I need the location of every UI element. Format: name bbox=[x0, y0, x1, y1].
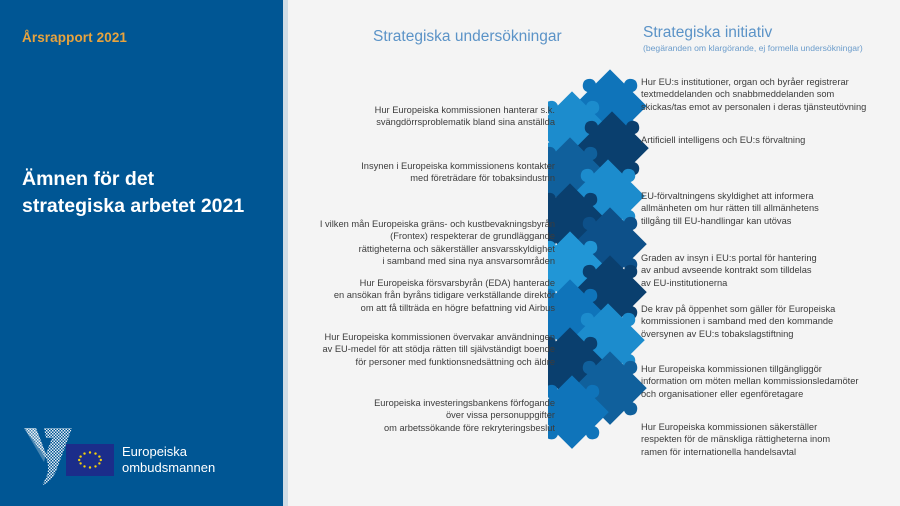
item-line: en ansökan från byråns tidigare verkstäl… bbox=[305, 289, 555, 301]
item-line: respekten för de mänskliga rättigheterna… bbox=[641, 433, 900, 445]
infographic-page: Årsrapport 2021 Ämnen för det strategisk… bbox=[0, 0, 900, 506]
column-heading-strategic-initiatives: Strategiska initiativ bbox=[643, 24, 772, 42]
column-heading-strategic-inquiries: Strategiska undersökningar bbox=[373, 28, 562, 46]
eu-flag bbox=[66, 444, 114, 476]
item-line: ramen för internationella handelsavtal bbox=[641, 446, 900, 458]
item-line: Hur Europeiska försvarsbyrån (EDA) hante… bbox=[305, 277, 555, 289]
item-line: Europeiska investeringsbankens förfogand… bbox=[305, 397, 555, 409]
logo-text-line-1: Europeiska bbox=[122, 444, 215, 460]
item-line: och organisationer eller egenföretagare bbox=[641, 388, 900, 400]
item-line: EU-förvaltningens skyldighet att informe… bbox=[641, 190, 900, 202]
list-item: Artificiell intelligens och EU:s förvalt… bbox=[641, 134, 900, 146]
list-item: Hur Europeiska kommissionen tillgängligg… bbox=[641, 363, 900, 400]
logo-text: Europeiska ombudsmannen bbox=[122, 444, 215, 476]
list-item: Hur Europeiska kommissionen säkerställer… bbox=[641, 421, 900, 458]
item-line: i samband med sina nya ansvarsområden bbox=[305, 255, 555, 267]
item-line: av EU-medel för att stödja rätten till s… bbox=[305, 343, 555, 355]
page-title-line-1: Ämnen för det bbox=[22, 166, 272, 193]
item-line: Hur EU:s institutioner, organ och byråer… bbox=[641, 76, 900, 88]
list-item: Graden av insyn i EU:s portal för hanter… bbox=[641, 252, 900, 289]
item-line: skickas/tas emot av personalen i deras t… bbox=[641, 101, 900, 113]
page-title: Ämnen för det strategiska arbetet 2021 bbox=[22, 166, 272, 220]
list-item: Insynen i Europeiska kommissionens konta… bbox=[305, 160, 555, 185]
item-line: De krav på öppenhet som gäller för Europ… bbox=[641, 303, 900, 315]
item-line: Insynen i Europeiska kommissionens konta… bbox=[305, 160, 555, 172]
list-item: Hur Europeiska försvarsbyrån (EDA) hante… bbox=[305, 277, 555, 314]
item-line: kommissionen i samband med den kommande bbox=[641, 315, 900, 327]
panel-divider bbox=[283, 0, 288, 506]
logo-text-line-2: ombudsmannen bbox=[122, 460, 215, 476]
item-line: Hur Europeiska kommissionen övervakar an… bbox=[305, 331, 555, 343]
item-line: om arbetssökande före rekryteringsbeslut bbox=[305, 422, 555, 434]
list-item: I vilken mån Europeiska gräns- och kustb… bbox=[305, 218, 555, 268]
item-line: allmänheten om hur rätten till allmänhet… bbox=[641, 202, 900, 214]
item-line: information om möten mellan kommissionsl… bbox=[641, 375, 900, 387]
list-item: Europeiska investeringsbankens förfogand… bbox=[305, 397, 555, 434]
page-title-line-2: strategiska arbetet 2021 bbox=[22, 193, 272, 220]
interlocking-puzzle-piece-chain bbox=[548, 52, 652, 494]
item-line: Hur Europeiska kommissionen hanterar s.k… bbox=[305, 104, 555, 116]
item-line: av anbud avseende kontrakt som tilldelas bbox=[641, 264, 900, 276]
list-item: Hur Europeiska kommissionen övervakar an… bbox=[305, 331, 555, 368]
item-line: Hur Europeiska kommissionen tillgängligg… bbox=[641, 363, 900, 375]
list-item: Hur Europeiska kommissionen hanterar s.k… bbox=[305, 104, 555, 129]
item-line: översynen av EU:s tobakslagstiftning bbox=[641, 328, 900, 340]
list-item: EU-förvaltningens skyldighet att informe… bbox=[641, 190, 900, 227]
item-line: över vissa personuppgifter bbox=[305, 409, 555, 421]
list-item: De krav på öppenhet som gäller för Europ… bbox=[641, 303, 900, 340]
item-line: I vilken mån Europeiska gräns- och kustb… bbox=[305, 218, 555, 230]
logo: Europeiska ombudsmannen bbox=[22, 424, 262, 486]
item-line: för personer med funktionsnedsättning oc… bbox=[305, 356, 555, 368]
item-line: Graden av insyn i EU:s portal för hanter… bbox=[641, 252, 900, 264]
item-line: svängdörrsproblematik bland sina anställ… bbox=[305, 116, 555, 128]
report-label: Årsrapport 2021 bbox=[22, 30, 127, 45]
item-line: om att få tillträda en högre befattning … bbox=[305, 302, 555, 314]
item-line: Hur Europeiska kommissionen säkerställer bbox=[641, 421, 900, 433]
column-subheading-strategic-initiatives: (begäranden om klargörande, ej formella … bbox=[643, 43, 863, 54]
item-line: av EU-institutionerna bbox=[641, 277, 900, 289]
item-line: textmeddelanden och snabbmeddelanden som bbox=[641, 88, 900, 100]
item-line: (Frontex) respekterar de grundläggande bbox=[305, 230, 555, 242]
item-line: tillgång till EU-handlingar kan utövas bbox=[641, 215, 900, 227]
item-line: rättigheterna och säkerställer ansvarssk… bbox=[305, 243, 555, 255]
item-line: med företrädare för tobaksindustrin bbox=[305, 172, 555, 184]
item-line: Artificiell intelligens och EU:s förvalt… bbox=[641, 134, 900, 146]
list-item: Hur EU:s institutioner, organ och byråer… bbox=[641, 76, 900, 113]
